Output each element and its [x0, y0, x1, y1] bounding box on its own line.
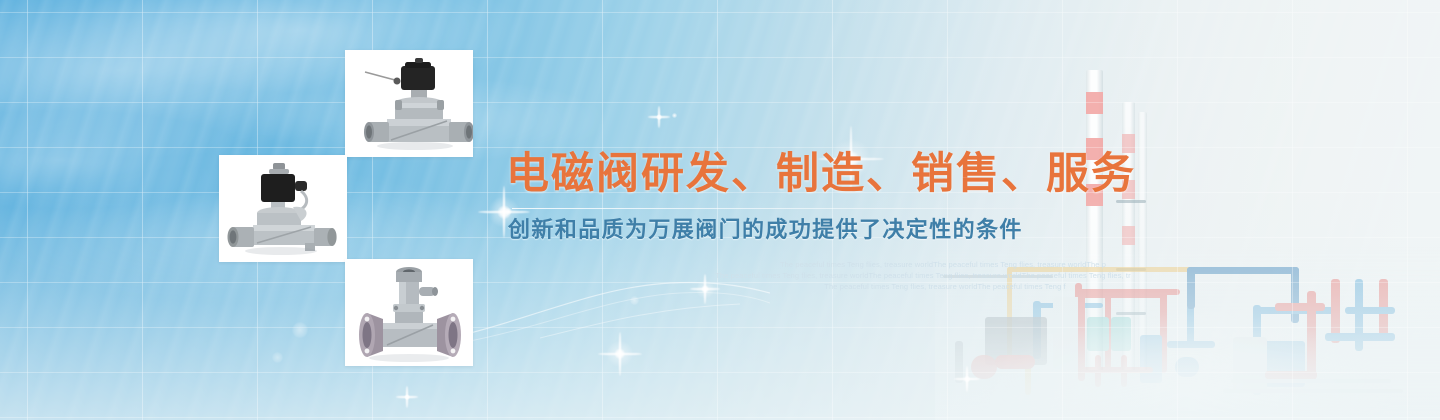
blurb-text: The peaceful times Teng flies, treasure … [636, 259, 1236, 292]
threaded-solenoid-valve-dark-coil-icon [345, 50, 473, 157]
blurb-line: The peaceful times Teng flies, treasure … [650, 259, 1236, 270]
blurb-line: The peaceful times Teng flies, treasure … [610, 270, 1236, 281]
product-tile-flanged-solenoid-valve[interactable] [345, 259, 473, 366]
blurb-line: The peaceful times Teng flies, treasure … [654, 281, 1236, 292]
threaded-solenoid-valve-brass-body-icon [219, 155, 347, 262]
hero-banner: 电磁阀研发、制造、销售、服务 创新和品质为万展阀门的成功提供了决定性的条件 Th… [0, 0, 1440, 420]
headline-divider [512, 208, 1072, 209]
flanged-solenoid-valve-icon [345, 259, 473, 366]
hero-copy: 电磁阀研发、制造、销售、服务 创新和品质为万展阀门的成功提供了决定性的条件 Th… [506, 148, 1106, 292]
product-tile-solenoid-valve-top[interactable] [345, 50, 473, 157]
subheadline: 创新和品质为万展阀门的成功提供了决定性的条件 [508, 215, 1106, 245]
product-tile-solenoid-valve-middle[interactable] [219, 155, 347, 262]
headline: 电磁阀研发、制造、销售、服务 [506, 148, 1106, 200]
